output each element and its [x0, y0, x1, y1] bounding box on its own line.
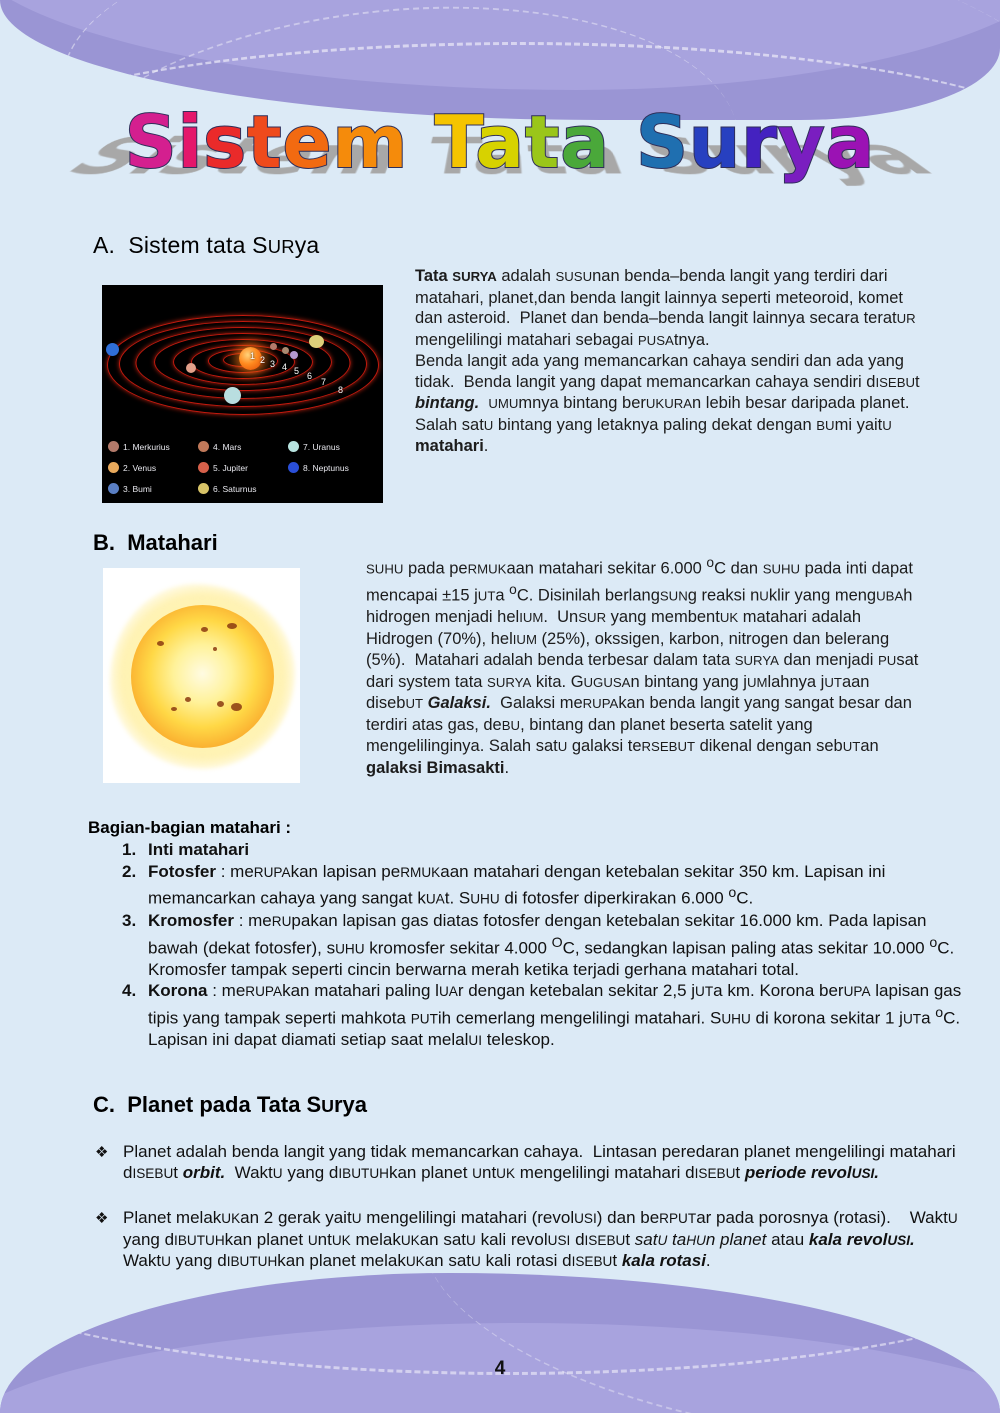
legend-planet-icon — [108, 462, 119, 473]
sunspot — [201, 627, 208, 632]
sun-parts-title: Bagian-bagian matahari : — [88, 818, 291, 838]
section-c-title-part1: Planet pada Tata S — [127, 1092, 321, 1117]
section-c-title-smallcaps: U — [321, 1096, 334, 1116]
section-a-title-part2: ya — [295, 232, 320, 258]
worksheet-title: Sistem Tata Surya Sistem Tata Surya — [0, 98, 1000, 216]
planet-number-label: 6 — [307, 371, 312, 381]
planet-bullet-text: Planet melakUKan 2 gerak yaitU mengelili… — [123, 1208, 965, 1273]
legend-item: 8. Neptunus — [288, 462, 378, 473]
sun-image — [103, 568, 300, 783]
legend-planet-icon — [198, 441, 209, 452]
legend-label: 2. Venus — [123, 463, 156, 473]
sun-part-number: 4. — [122, 981, 148, 1051]
title-letter: S — [636, 100, 689, 184]
title-letter — [610, 100, 636, 184]
planet-bullet-text: Planet adalah benda langit yang tidak me… — [123, 1142, 965, 1184]
planet-saturn-dot — [309, 335, 324, 348]
legend-item: 5. Jupiter — [198, 462, 288, 473]
legend-item: 6. Saturnus — [198, 483, 288, 494]
legend-label: 8. Neptunus — [303, 463, 349, 473]
legend-planet-icon — [288, 462, 299, 473]
planet-earth-dot — [186, 363, 196, 373]
legend-label: 4. Mars — [213, 442, 241, 452]
planet-number-label: 4 — [282, 362, 287, 372]
section-b-title: Matahari — [127, 530, 217, 555]
sunspot — [157, 641, 164, 646]
title-letter: t — [525, 100, 560, 184]
sunspot — [227, 623, 237, 629]
legend-label: 3. Bumi — [123, 484, 152, 494]
title-letter: a — [475, 100, 525, 184]
legend-planet-icon — [198, 462, 209, 473]
legend-planet-icon — [108, 441, 119, 452]
legend-planet-icon — [198, 483, 209, 494]
legend-item: 7. Uranus — [288, 441, 378, 452]
title-letter: a — [560, 100, 610, 184]
legend-label: 5. Jupiter — [213, 463, 248, 473]
bullet-diamond-icon: ❖ — [95, 1208, 123, 1273]
section-a-title-part1: Sistem tata S — [128, 232, 267, 258]
legend-planet-icon — [288, 441, 299, 452]
section-a-paragraph: Tata SURYA adalah SUSUnan benda–benda la… — [415, 266, 925, 457]
title-letter: S — [125, 100, 178, 184]
planet-number-label: 8 — [338, 385, 343, 395]
sun-part-number: 3. — [122, 911, 148, 980]
sun-part-number: 2. — [122, 862, 148, 911]
section-b-heading: B. Matahari — [93, 530, 218, 556]
sunspot — [185, 697, 191, 702]
section-b-paragraph: SUHU pada peRMUKaan matahari sekitar 6.0… — [366, 553, 929, 778]
solar-system-image: 1 2 3 4 5 6 7 8 1. Merkurius4. Mars7. Ur… — [102, 285, 383, 503]
legend-item: 3. Bumi — [108, 483, 198, 494]
title-letter: y — [778, 100, 826, 184]
legend-planet-icon — [108, 483, 119, 494]
sun-part-text: Fotosfer : meRUPAkan lapisan peRMUKaan m… — [148, 862, 967, 911]
section-a-heading: A. Sistem tata SURya — [93, 232, 319, 259]
title-letter: a — [826, 100, 876, 184]
sunspot — [217, 701, 224, 707]
section-c-heading: C. Planet pada Tata SUrya — [93, 1092, 367, 1118]
page-number: 4 — [0, 1358, 1000, 1380]
sun-part-text: Korona : meRUPAkan matahari paling lUAr … — [148, 981, 967, 1051]
sun-part-text: Kromosfer : meRUpakan lapisan gas diatas… — [148, 911, 967, 980]
title-letter: T — [435, 100, 476, 184]
title-letter: e — [283, 100, 333, 184]
planet-number-label: 1 — [250, 351, 255, 361]
section-b-letter: B. — [93, 530, 115, 555]
section-c-title-part2: rya — [334, 1092, 367, 1117]
title-letter: r — [741, 100, 778, 184]
legend-label: 6. Saturnus — [213, 484, 256, 494]
sunspot — [231, 703, 242, 711]
sun-part-item: 1.Inti matahari — [122, 840, 967, 861]
planet-bullet-list: ❖Planet adalah benda langit yang tidak m… — [95, 1142, 965, 1297]
sun-parts-list: 1.Inti matahari2.Fotosfer : meRUPAkan la… — [122, 840, 967, 1052]
planet-number-label: 3 — [270, 359, 275, 369]
sun-part-number: 1. — [122, 840, 148, 861]
planet-number-label: 2 — [260, 355, 265, 365]
sun-part-item: 2.Fotosfer : meRUPAkan lapisan peRMUKaan… — [122, 862, 967, 911]
planet-number-label: 7 — [321, 377, 326, 387]
legend-item: 1. Merkurius — [108, 441, 198, 452]
planet-bullet-item: ❖Planet adalah benda langit yang tidak m… — [95, 1142, 965, 1184]
sun-disk — [131, 605, 274, 748]
section-a-title-smallcaps: UR — [268, 236, 295, 257]
sun-part-text: Inti matahari — [148, 840, 967, 861]
planet-mars-dot — [290, 351, 298, 359]
legend-item: 4. Mars — [198, 441, 288, 452]
title-letter: m — [332, 100, 408, 184]
section-a-letter: A. — [93, 232, 115, 258]
planet-number-label: 5 — [294, 366, 299, 376]
solar-system-legend: 1. Merkurius4. Mars7. Uranus2. Venus5. J… — [108, 436, 378, 499]
planet-bullet-item: ❖Planet melakUKan 2 gerak yaitU mengelil… — [95, 1208, 965, 1273]
title-letter — [408, 100, 434, 184]
planet-mercury-dot — [270, 343, 277, 350]
title-letter: u — [689, 100, 741, 184]
section-c-letter: C. — [93, 1092, 115, 1117]
legend-label: 1. Merkurius — [123, 442, 170, 452]
title-wordart: Sistem Tata Surya — [0, 100, 1000, 184]
bullet-diamond-icon: ❖ — [95, 1142, 123, 1184]
legend-label: 7. Uranus — [303, 442, 340, 452]
sunspot — [213, 647, 217, 651]
legend-item: 2. Venus — [108, 462, 198, 473]
planet-neptune-dot — [106, 343, 119, 356]
sun-part-item: 3.Kromosfer : meRUpakan lapisan gas diat… — [122, 911, 967, 980]
planet-venus-dot — [282, 347, 289, 354]
planet-uranus-dot — [224, 387, 241, 404]
sunspot — [171, 707, 177, 711]
sun-part-item: 4.Korona : meRUPAkan matahari paling lUA… — [122, 981, 967, 1051]
title-letter: s — [203, 100, 247, 184]
title-letter: i — [178, 100, 204, 184]
title-letter: t — [247, 100, 282, 184]
